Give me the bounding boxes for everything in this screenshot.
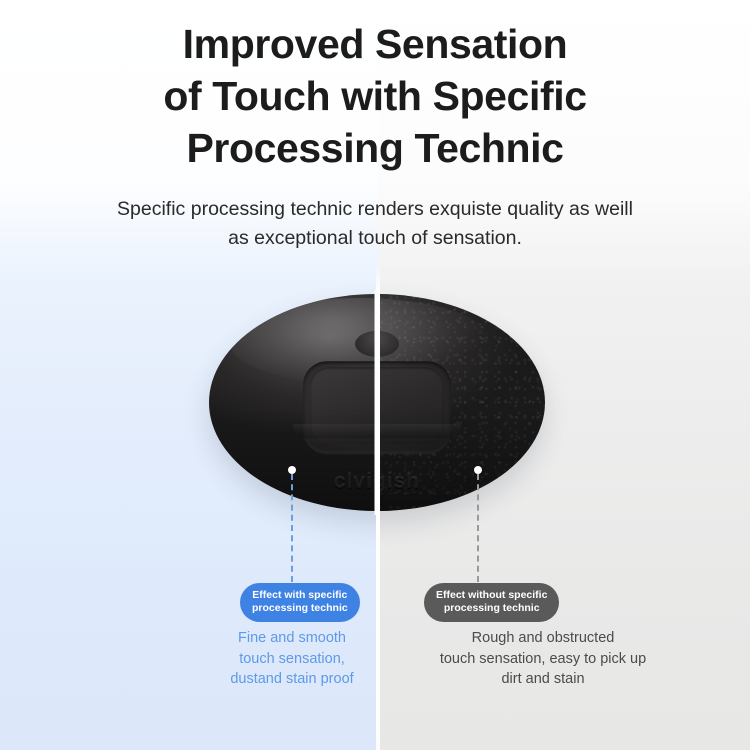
badge-left-line-2: processing technic [252,602,348,615]
header-block: Improved Sensation of Touch with Specifi… [0,0,750,253]
headline-line-3: Processing Technic [0,122,750,174]
page-title: Improved Sensation of Touch with Specifi… [0,0,750,174]
headline-line-1: Improved Sensation [0,18,750,70]
callout-dot-left [288,466,296,474]
subtitle-line-2: as exceptional touch of sensation. [0,224,750,253]
caption-right: Rough and obstructed touch sensation, ea… [378,628,708,690]
caption-left-line-1: Fine and smooth [176,628,408,649]
badge-left-line-1: Effect with specific [252,589,348,602]
callout-leader-line-left [291,474,293,582]
product-feature-banner: Improved Sensation of Touch with Specifi… [0,0,750,750]
caption-right-line-3: dirt and stain [378,669,708,690]
callout-dot-right [474,466,482,474]
subtitle-line-1: Specific processing technic renders exqu… [0,195,750,224]
page-subtitle: Specific processing technic renders exqu… [0,195,750,252]
status-badge-with-technic: Effect with specific processing technic [240,583,360,622]
headline-line-2: of Touch with Specific [0,70,750,122]
caption-right-line-2: touch sensation, easy to pick up [378,649,708,670]
status-badge-without-technic: Effect without specific processing techn… [424,583,559,622]
caption-left: Fine and smooth touch sensation, dustand… [176,628,408,690]
callout-leader-line-right [477,474,479,582]
badge-right-line-2: processing technic [436,602,547,615]
badge-right-line-1: Effect without specific [436,589,547,602]
caption-right-line-1: Rough and obstructed [378,628,708,649]
caption-left-line-2: touch sensation, [176,649,408,670]
caption-left-line-3: dustand stain proof [176,669,408,690]
